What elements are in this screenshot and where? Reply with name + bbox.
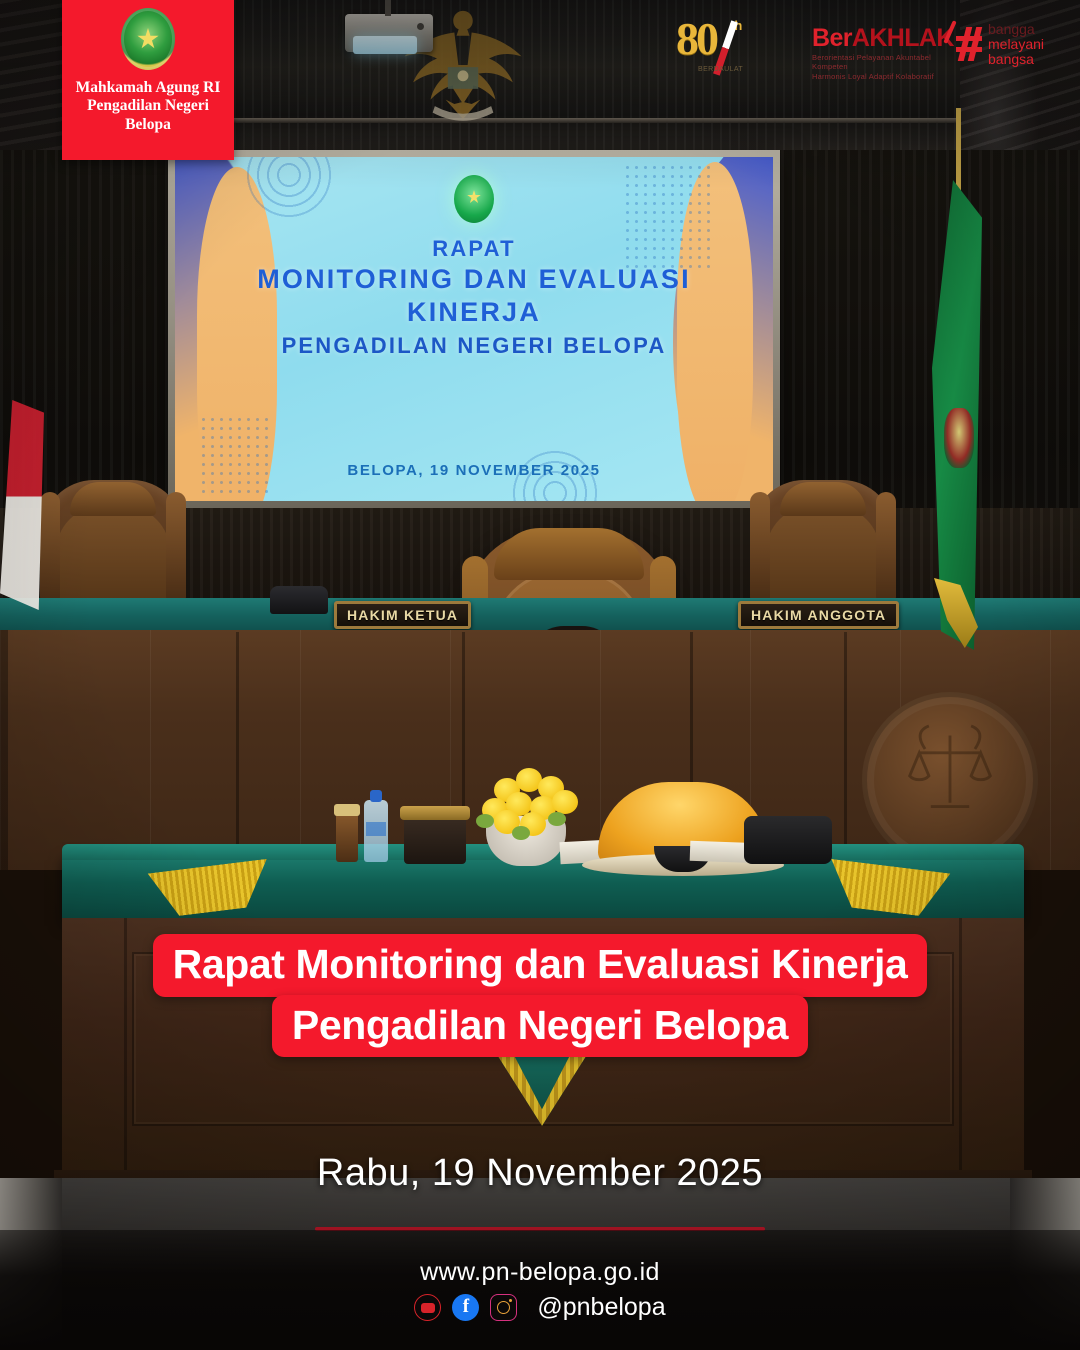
flower-leaf: [548, 812, 566, 826]
slide-dots-bottom: [199, 415, 269, 495]
chair-post-left: [40, 492, 60, 600]
berakhlak-logo: BerAKHLAK Berorientasi Pelayanan Akuntab…: [812, 26, 948, 74]
slide-line-3: KINERJA: [175, 295, 773, 330]
panel-seam: [844, 632, 847, 870]
institution-line-3: Belopa: [76, 116, 221, 134]
flag-emblem-icon: [944, 408, 974, 468]
ceiling-projector: [345, 14, 433, 52]
panel-seam: [236, 632, 239, 870]
anniversary-80th-logo: 80 th BERDAULAT: [676, 16, 764, 74]
chair-crest: [70, 482, 156, 516]
instagram-icon[interactable]: [490, 1294, 517, 1321]
courtroom-photo: RAPAT MONITORING DAN EVALUASI KINERJA PE…: [0, 0, 1080, 1350]
bangga-line-2: melayani: [988, 37, 1044, 52]
headline-line-2: Pengadilan Negeri Belopa: [272, 995, 808, 1058]
berakhlak-wordmark: BerAKHLAK: [812, 26, 948, 51]
chair-post-left: [750, 492, 770, 600]
facebook-icon[interactable]: f: [452, 1294, 479, 1321]
institution-name: Mahkamah Agung RI Pengadilan Negeri Belo…: [76, 79, 221, 134]
mahkamah-agung-flag: [928, 108, 986, 648]
social-links: f @pnbelopa: [414, 1293, 665, 1322]
flower-leaf: [512, 826, 530, 840]
chair-post-right: [166, 492, 186, 600]
scales-of-justice-carving-icon: [862, 692, 1038, 868]
institution-line-2: Pengadilan Negeri: [76, 97, 221, 115]
gavel-block: [270, 586, 328, 614]
nameplate-hakim-anggota: HAKIM ANGGOTA: [738, 601, 899, 629]
judge-chair-right: [752, 480, 894, 600]
bangga-wordmark: bangga melayani bangsa: [988, 22, 1044, 76]
projector-arm: [385, 0, 391, 16]
berakhlak-main: AKHLAK: [852, 24, 954, 52]
hashtag-icon: [956, 27, 982, 61]
social-handle[interactable]: @pnbelopa: [537, 1293, 665, 1322]
nameplate-hakim-ketua: HAKIM KETUA: [334, 601, 471, 629]
slide-line-2: MONITORING DAN EVALUASI: [175, 263, 773, 295]
headline-line-1: Rapat Monitoring dan Evaluasi Kinerja: [153, 934, 928, 997]
flower-bloom: [552, 790, 578, 814]
slide-emblem-icon: [454, 175, 494, 223]
flower-leaf: [476, 814, 494, 828]
berakhlak-subtitle: Berorientasi Pelayanan Akuntabel Kompete…: [812, 53, 948, 81]
institution-line-1: Mahkamah Agung RI: [76, 79, 221, 97]
berakhlak-prefix: Ber: [812, 24, 852, 52]
berakhlak-sub-line-2: Harmonis Loyal Adaptif Kolaboratif: [812, 72, 948, 81]
chair-post-right: [876, 492, 896, 600]
headline-banner: Rapat Monitoring dan Evaluasi Kinerja Pe…: [0, 934, 1080, 1057]
event-date: Rabu, 19 November 2025: [0, 1152, 1080, 1195]
slide-text-block: RAPAT MONITORING DAN EVALUASI KINERJA PE…: [175, 235, 773, 362]
poster-canvas: RAPAT MONITORING DAN EVALUASI KINERJA PE…: [0, 0, 1080, 1350]
chair-crest: [780, 482, 866, 516]
black-bag: [744, 816, 832, 864]
website-url[interactable]: www.pn-belopa.go.id: [420, 1258, 660, 1287]
bangga-line-3: bangsa: [988, 52, 1044, 67]
bangga-line-1: bangga: [988, 22, 1044, 37]
dark-box-on-table: [404, 816, 466, 864]
slide-date: BELOPA, 19 NOVEMBER 2025: [175, 462, 773, 479]
chair-crown: [494, 528, 644, 580]
judge-chair-left: [42, 480, 184, 600]
institution-badge: Mahkamah Agung RI Pengadilan Negeri Belo…: [62, 0, 234, 160]
presentation-slide: RAPAT MONITORING DAN EVALUASI KINERJA PE…: [175, 157, 773, 501]
scales-icon: [902, 718, 998, 828]
slide-line-1: RAPAT: [175, 235, 773, 263]
anniversary-subtitle: BERDAULAT: [698, 66, 743, 73]
footer-bar: www.pn-belopa.go.id f @pnbelopa: [0, 1230, 1080, 1350]
slide-line-4: PENGADILAN NEGERI BELOPA: [175, 330, 773, 362]
youtube-icon[interactable]: [414, 1294, 441, 1321]
mahkamah-agung-seal-icon: [121, 8, 175, 70]
bangga-melayani-bangsa-logo: bangga melayani bangsa: [956, 22, 1068, 76]
projection-screen: RAPAT MONITORING DAN EVALUASI KINERJA PE…: [168, 150, 780, 508]
water-bottle: [364, 800, 388, 862]
projector-knob: [417, 23, 424, 30]
berakhlak-sub-line-1: Berorientasi Pelayanan Akuntabel Kompete…: [812, 53, 948, 72]
wooden-nameplate-stand: [336, 812, 358, 862]
projector-lens: [353, 36, 417, 54]
